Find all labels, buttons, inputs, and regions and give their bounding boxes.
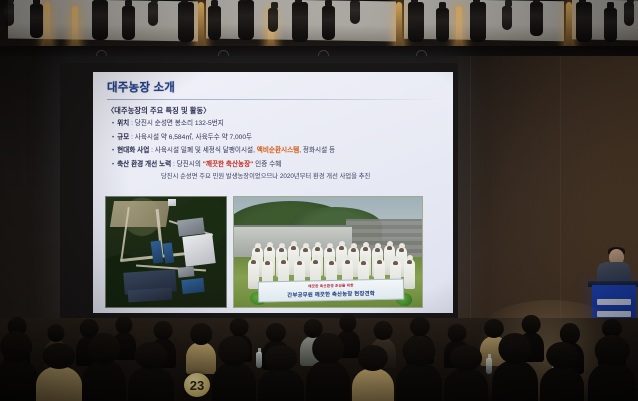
spotlight-icon	[530, 2, 543, 36]
bullet-dot: •	[112, 147, 114, 156]
spotlight-icon	[292, 2, 308, 42]
bullet-dot: •	[112, 161, 114, 170]
audience-person	[82, 360, 126, 401]
audience-person	[128, 366, 174, 401]
aerial-field	[110, 201, 170, 227]
ceiling-light-rig	[0, 0, 638, 58]
audience-person	[540, 366, 584, 401]
audience-person	[212, 362, 256, 401]
audience-person	[352, 368, 394, 401]
audience-person	[36, 366, 82, 401]
water-bottle	[486, 358, 492, 374]
spotlight-icon	[576, 2, 592, 42]
spotlight-icon	[436, 8, 449, 42]
spotlight-icon	[148, 2, 158, 26]
ceiling-light-strip	[198, 2, 204, 50]
ceiling-light-strip	[566, 2, 572, 50]
aerial-farm-photo	[105, 196, 227, 308]
audience-person	[588, 362, 636, 401]
bullet-highlight: "깨끗한 축산농장"	[203, 161, 254, 168]
bullet-text: 위치 : 당진시 순성면 봉소리 132-5번지	[117, 120, 224, 129]
spotlight-icon	[624, 2, 634, 26]
audience-person	[0, 358, 38, 401]
bullet-environment: • 축산 환경 개선 노력 : 당진시의 "깨끗한 축산농장" 인증 수혜	[107, 161, 441, 170]
bullet-label: 위치	[117, 120, 129, 127]
group-photo: 깨끗한 축산환경 조성을 위한 간부공무원 깨끗한 축산농장 현장견학	[233, 196, 423, 308]
slide-sub-note: 당진시 순성면 주요 민원 발생농장이었으므나 2020년부터 환경 개선 사업…	[107, 173, 441, 181]
spotlight-icon	[208, 6, 221, 40]
spotlight-icon	[30, 4, 43, 38]
bullet-value-pre: 당진시의	[177, 161, 203, 168]
photo-person	[404, 259, 415, 289]
bullet-label: 규모	[117, 134, 129, 141]
conference-hall-photo: 대주농장 소개 〈대주농장의 주요 특징 및 활동〉 • 위치 : 당진시 순성…	[0, 0, 638, 401]
spotlight-icon	[470, 2, 486, 42]
spotlight-icon	[178, 2, 194, 42]
bullet-label: 현대화 사업	[117, 147, 149, 154]
spotlight-icon	[238, 0, 254, 40]
bullet-value-post: , 정화시설 등	[299, 147, 335, 154]
bullet-value: 사육시설 약 6,584㎡, 사육두수 약 7,000두	[135, 134, 252, 141]
aerial-building	[168, 199, 176, 206]
photo-banner: 깨끗한 축산환경 조성을 위한 간부공무원 깨끗한 축산농장 현장견학	[258, 278, 404, 302]
aerial-building	[182, 233, 215, 266]
bullet-highlight: 액비순환시스템	[257, 147, 299, 154]
bullet-value: 당진시 순성면 봉소리 132-5번지	[135, 120, 224, 127]
bullet-dot: •	[112, 120, 114, 129]
podium-sign-bar	[597, 311, 631, 317]
banner-line-1: 깨끗한 축산환경 조성을 위한	[308, 283, 354, 289]
audience-person	[492, 360, 538, 401]
spotlight-icon	[4, 2, 14, 26]
spotlight-icon	[350, 0, 360, 24]
podium-sign-bar	[597, 299, 631, 305]
slide-title: 대주농장 소개	[107, 82, 441, 95]
title-underline	[107, 99, 441, 100]
spotlight-icon	[604, 8, 617, 42]
audience-person	[444, 368, 488, 401]
slide-sub-heading: 〈대주농장의 주요 특징 및 활동〉	[107, 106, 441, 116]
wall-seam	[560, 56, 561, 324]
bullet-label: 축산 환경 개선 노력	[117, 161, 171, 168]
bullet-list: • 위치 : 당진시 순성면 봉소리 132-5번지 • 규모 : 사육시설 약…	[107, 120, 441, 181]
wall-seam	[470, 56, 471, 324]
presentation-slide: 대주농장 소개 〈대주농장의 주요 특징 및 활동〉 • 위치 : 당진시 순성…	[93, 72, 453, 313]
bullet-modernization: • 현대화 사업 : 사육시설 밀폐 및 세정식 달팽이시설, 액비순환시스템,…	[107, 147, 441, 156]
bullet-location: • 위치 : 당진시 순성면 봉소리 132-5번지	[107, 120, 441, 129]
spotlight-icon	[408, 2, 424, 42]
spotlight-icon	[268, 8, 278, 32]
bullet-text: 규모 : 사육시설 약 6,584㎡, 사육두수 약 7,000두	[117, 134, 252, 143]
bullet-text: 축산 환경 개선 노력 : 당진시의 "깨끗한 축산농장" 인증 수혜	[117, 161, 281, 170]
slide-photo-row: 깨끗한 축산환경 조성을 위한 간부공무원 깨끗한 축산농장 현장견학	[105, 196, 423, 308]
spotlight-icon	[502, 6, 512, 30]
spotlight-icon	[122, 6, 135, 40]
audience-person	[306, 360, 350, 401]
water-bottle	[256, 352, 262, 368]
banner-line-2: 간부공무원 깨끗한 축산농장 현장견학	[287, 289, 375, 299]
spotlight-icon	[92, 0, 108, 40]
aerial-building	[181, 278, 204, 294]
ceiling-light-strip	[44, 2, 50, 50]
bullet-value-post: 인증 수혜	[253, 161, 281, 168]
audience-person	[396, 362, 442, 401]
bullet-value-pre: 사육시설 밀폐 및 세정식 달팽이시설,	[155, 147, 257, 154]
bullet-text: 현대화 사업 : 사육시설 밀폐 및 세정식 달팽이시설, 액비순환시스템, 정…	[117, 147, 335, 156]
table-number-sign: 23	[184, 373, 210, 397]
spotlight-icon	[322, 6, 335, 40]
audience-person	[258, 368, 304, 401]
bullet-scale: • 규모 : 사육시설 약 6,584㎡, 사육두수 약 7,000두	[107, 134, 441, 143]
aerial-building	[178, 266, 195, 278]
audience-person	[186, 342, 216, 374]
ceiling-light-strip	[396, 2, 402, 50]
bullet-dot: •	[112, 134, 114, 143]
